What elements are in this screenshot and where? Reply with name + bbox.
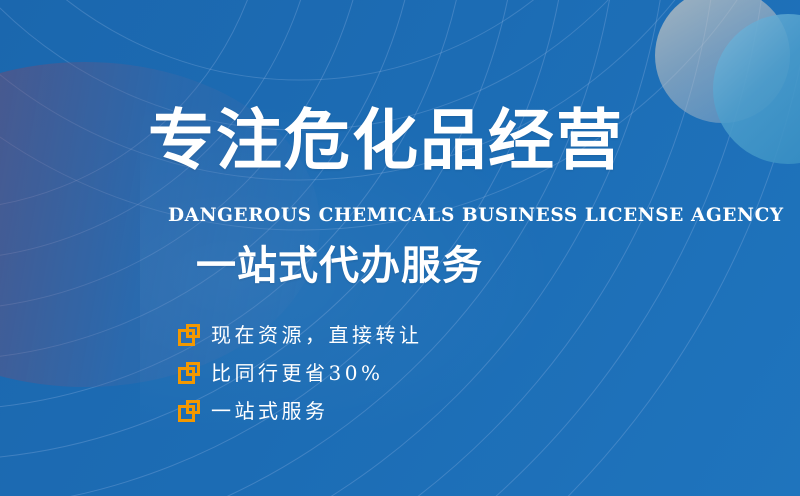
banner-content: 专注危化品经营 DANGEROUS CHEMICALS BUSINESS LIC… (0, 0, 800, 496)
headline-subtitle-cn: 一站式代办服务 (196, 246, 483, 286)
overlapping-squares-icon (178, 400, 200, 422)
list-item-label: 现在资源，直接转让 (211, 325, 423, 345)
feature-bullet-list: 现在资源，直接转让 比同行更省30% 一站式服务 (178, 316, 423, 430)
promo-banner: 专注危化品经营 DANGEROUS CHEMICALS BUSINESS LIC… (0, 0, 800, 496)
overlapping-squares-icon (178, 324, 200, 346)
headline-title-cn: 专注危化品经营 (148, 108, 624, 174)
list-item: 现在资源，直接转让 (178, 316, 423, 354)
overlapping-squares-icon (178, 362, 200, 384)
list-item: 比同行更省30% (178, 354, 423, 392)
headline-title-en: DANGEROUS CHEMICALS BUSINESS LICENSE AGE… (168, 205, 784, 226)
list-item-label: 比同行更省30% (211, 363, 383, 383)
list-item-label: 一站式服务 (211, 401, 329, 421)
list-item: 一站式服务 (178, 392, 423, 430)
